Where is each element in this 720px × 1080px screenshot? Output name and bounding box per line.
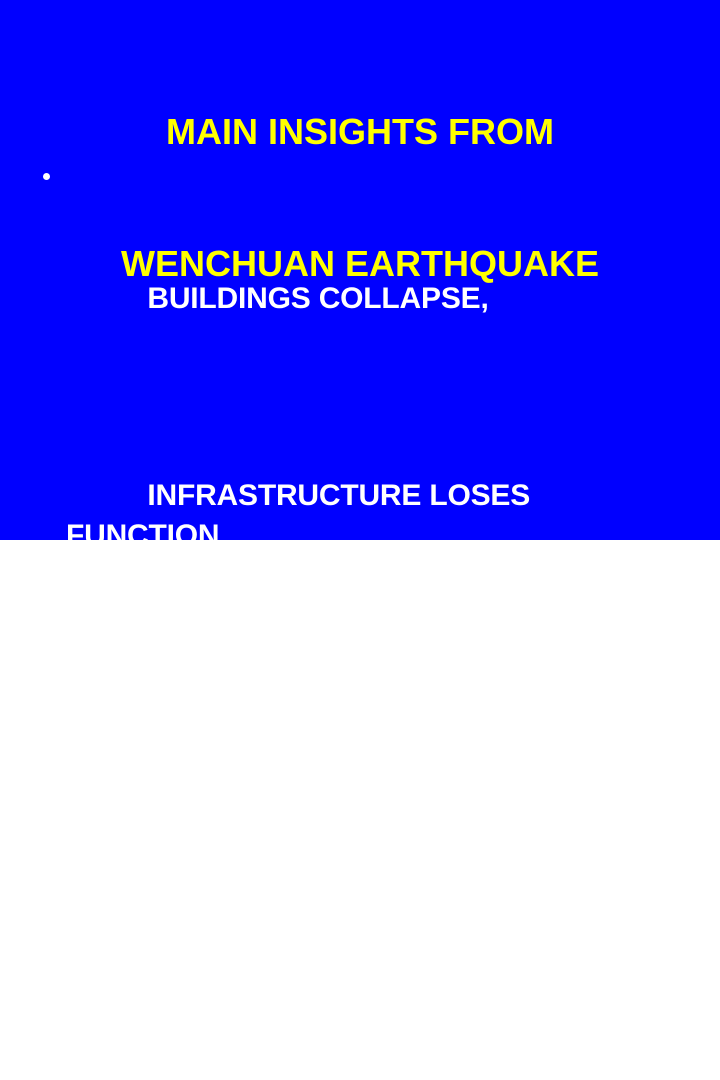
body-line-1: BUILDINGS COLLAPSE,: [66, 239, 688, 358]
body-line-2: INFRASTRUCTURE LOSES FUNCTION,: [66, 437, 688, 595]
presentation-slide: MAIN INSIGHTS FROM WENCHUAN EARTHQUAKE B…: [0, 0, 720, 540]
body-line-4: WASTED WHEN BUILDINGS AND: [66, 871, 688, 990]
body-line-3: LIVES ARE LOST, AND MONEY IS: [66, 674, 688, 793]
body-line-3-white: LIVES ARE LOST, AND MONEY IS: [147, 716, 619, 749]
slide-title-line-1: MAIN INSIGHTS FROM: [0, 110, 720, 154]
bullet-item-text: BUILDINGS COLLAPSE, INFRASTRUCTURE LOSES…: [66, 160, 688, 1080]
body-line-1-white: BUILDINGS COLLAPSE,: [147, 282, 488, 315]
bullet-point-icon: [38, 160, 66, 180]
body-line-5: INFRASTRUCTURE ARE NOT: [66, 1069, 688, 1080]
body-line-4-white: WASTED WHEN BUILDINGS AND: [147, 914, 624, 947]
slide-body: BUILDINGS COLLAPSE, INFRASTRUCTURE LOSES…: [38, 160, 688, 1080]
body-line-2-white: INFRASTRUCTURE LOSES FUNCTION,: [66, 479, 538, 552]
bullet-list-item: BUILDINGS COLLAPSE, INFRASTRUCTURE LOSES…: [38, 160, 688, 1080]
